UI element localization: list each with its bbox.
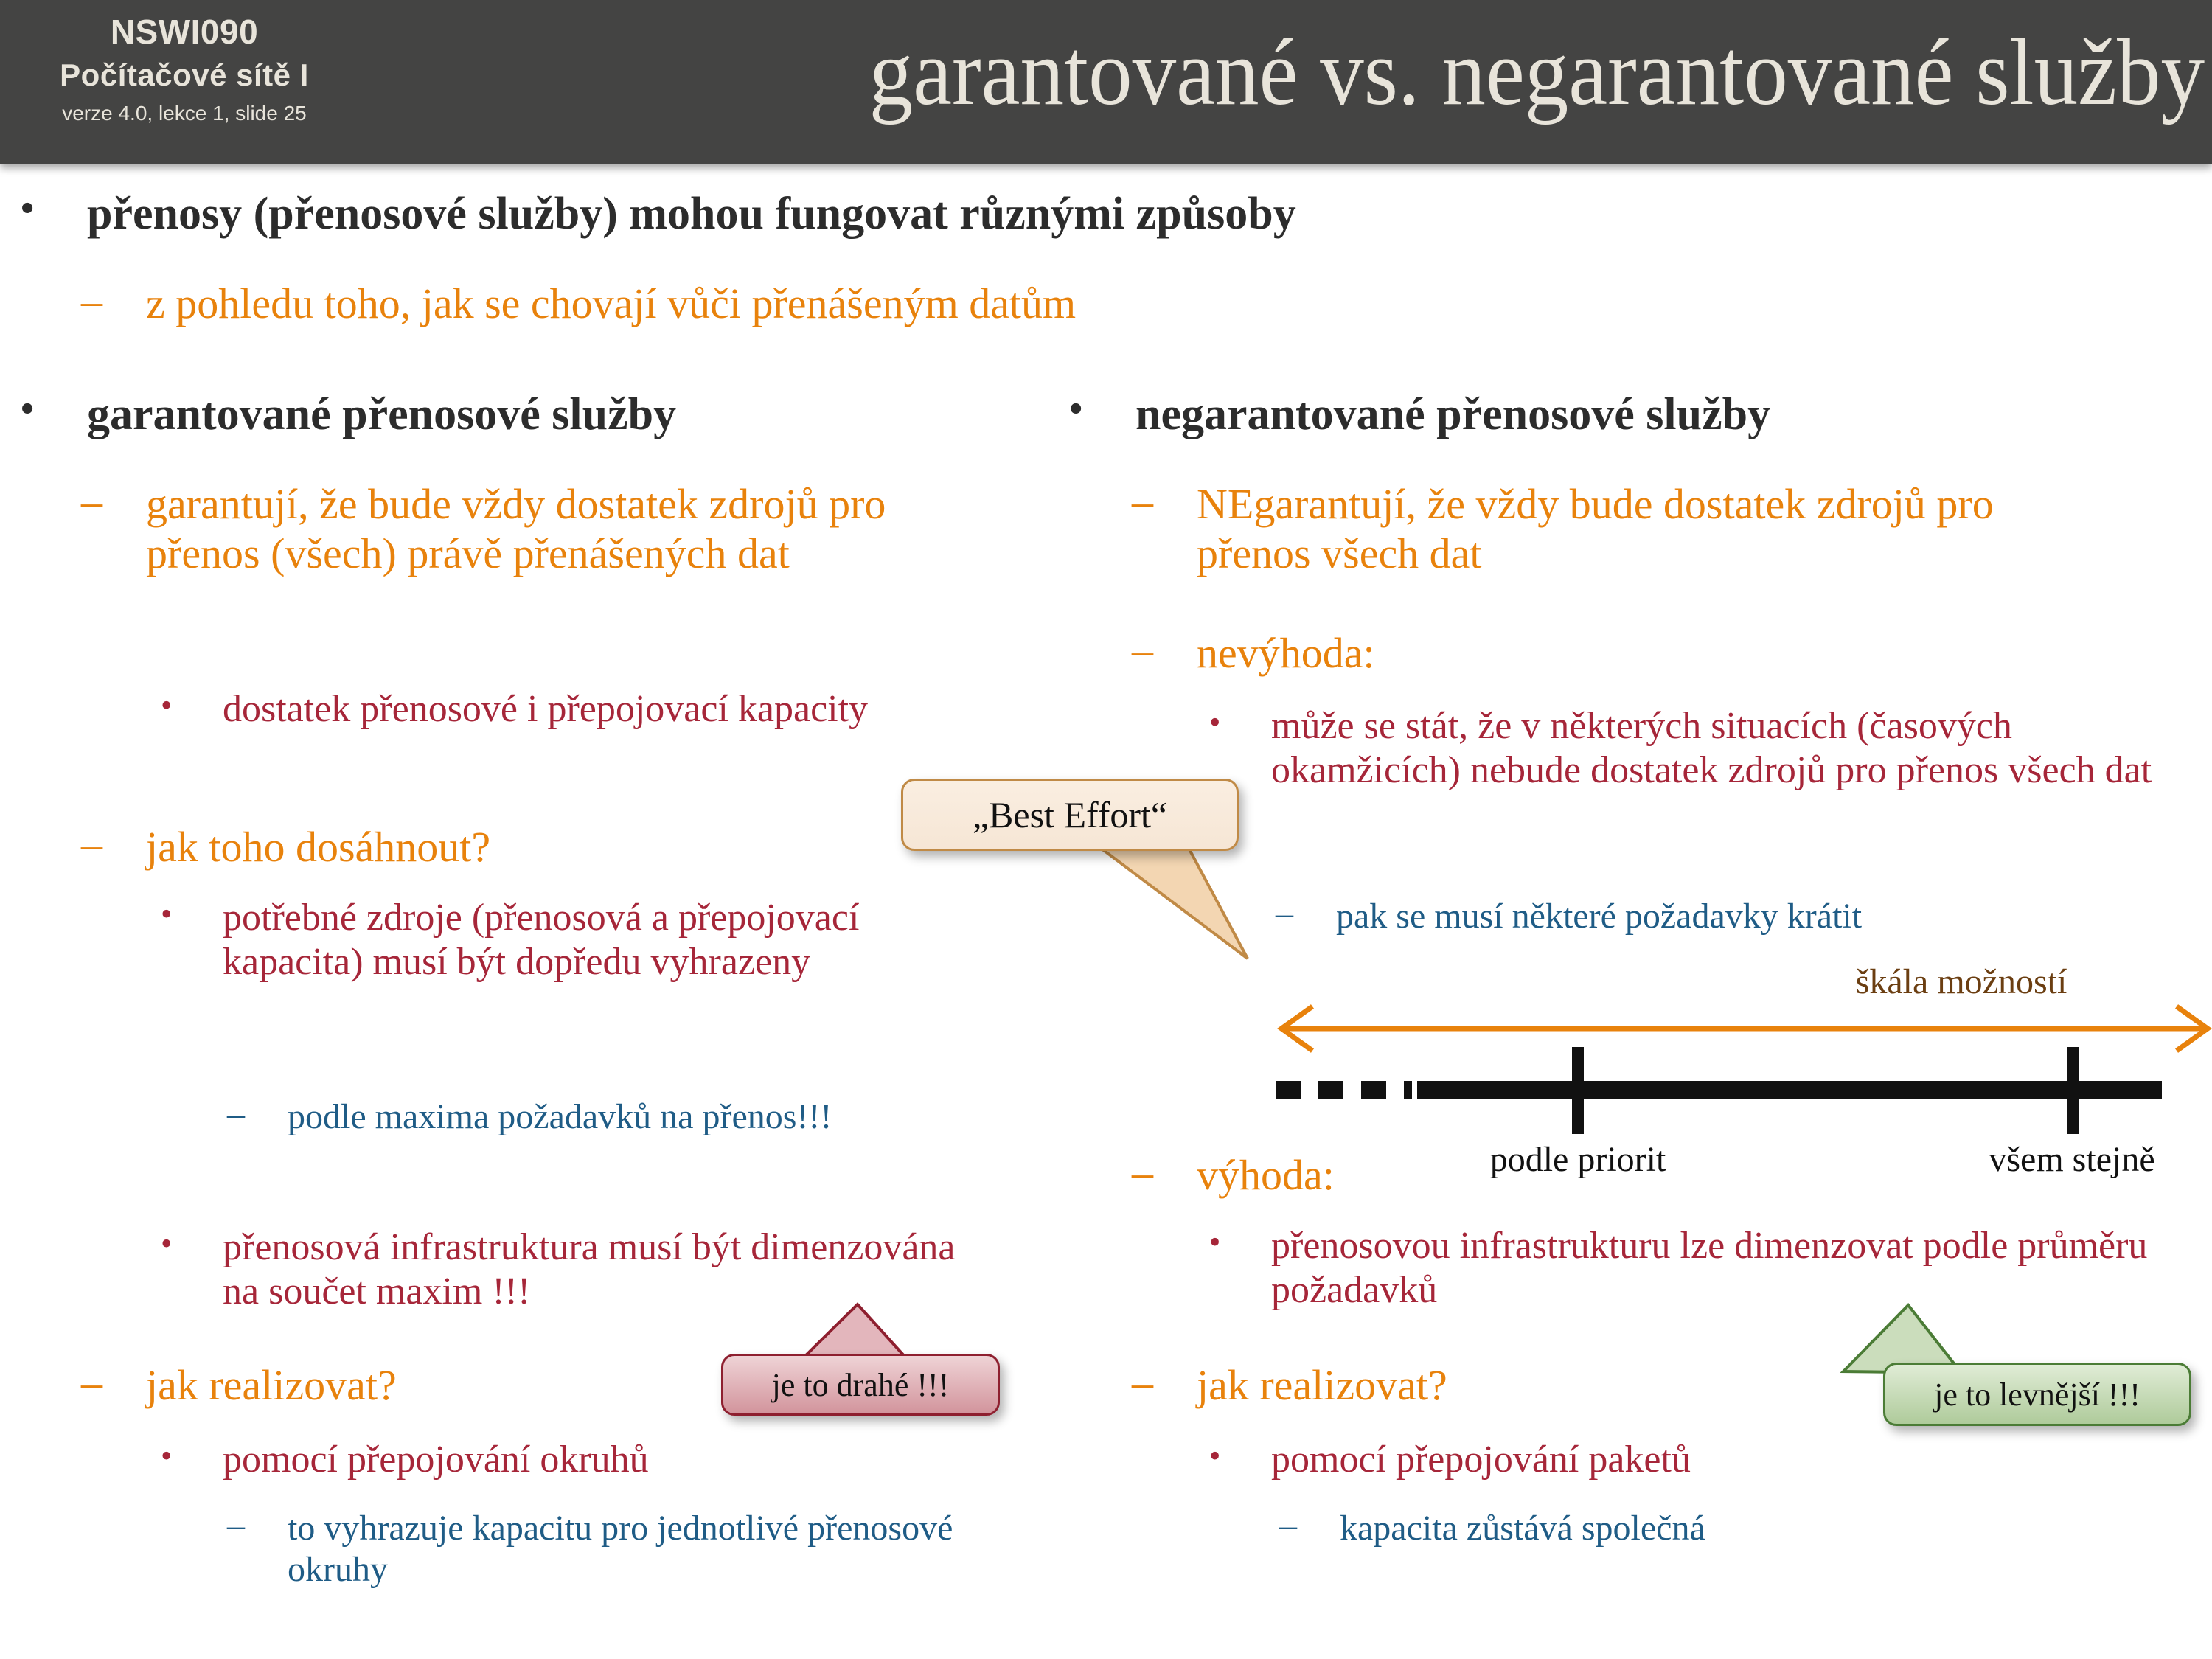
dash-icon: – — [1132, 628, 1197, 673]
left-item2-sub1-label: potřebné zdroje (přenosová a přepojovací… — [223, 896, 987, 985]
left-item3-sub1-label: pomocí přepojování okruhů — [223, 1438, 994, 1482]
dash-icon: – — [1132, 1360, 1197, 1405]
scale-tick-right-label: všem stejně — [1902, 1139, 2212, 1180]
bullet-dot-icon: • — [1069, 391, 1135, 427]
right-item4-label: jak realizovat? — [1197, 1360, 1869, 1410]
left-heading-label: garantované přenosové služby — [87, 391, 1038, 439]
version-line: verze 4.0, lekce 1, slide 25 — [0, 102, 369, 125]
right-item2-label: nevýhoda: — [1197, 628, 2017, 678]
right-item1-label: NEgarantují, že vždy bude dostatek zdroj… — [1197, 479, 2061, 579]
course-badge: NSWI090 Počítačové sítě I verze 4.0, lek… — [0, 0, 369, 147]
left-item3-sub1-sub-label: to vyhrazuje kapacitu pro jednotlivé pře… — [288, 1508, 1060, 1590]
slide-header: NSWI090 Počítačové sítě I verze 4.0, lek… — [0, 0, 2212, 164]
right-item2-sub1-label: může se stát, že v některých situacích (… — [1271, 704, 2190, 793]
scale-diagram: škála možností podle priorit všem stejně — [1253, 966, 2212, 1187]
left-item2-sub1-sub-label: podle maxima požadavků na přenos!!! — [288, 1096, 994, 1138]
course-name: Počítačové sítě I — [0, 58, 369, 93]
bullet-dot-icon: • — [161, 687, 223, 725]
cheaper-callout: je to levnější !!! — [1883, 1363, 2191, 1426]
left-item2: – jak toho dosáhnout? — [81, 822, 966, 872]
dash-icon: – — [227, 1096, 288, 1132]
right-item4-sub1-sub-label: kapacita zůstává společná — [1340, 1508, 2164, 1549]
dash-icon: – — [81, 479, 146, 524]
best-effort-callout-label: „Best Effort“ — [973, 793, 1167, 836]
left-item1-sub-label: dostatek přenosové i přepojovací kapacit… — [223, 687, 987, 731]
left-item3-sub1-sub: – to vyhrazuje kapacitu pro jednotlivé p… — [227, 1508, 1060, 1590]
dash-icon: – — [227, 1508, 288, 1543]
dash-icon: – — [81, 822, 146, 867]
right-heading-label: negarantované přenosové služby — [1135, 391, 2190, 439]
left-item3-label: jak realizovat? — [146, 1360, 745, 1410]
right-item4-sub1-sub: – kapacita zůstává společná — [1279, 1508, 2164, 1549]
left-item2-sub1-sub: – podle maxima požadavků na přenos!!! — [227, 1096, 994, 1138]
right-item4-sub1-label: pomocí přepojování paketů — [1271, 1438, 2094, 1482]
left-item2-sub1: • potřebné zdroje (přenosová a přepojova… — [161, 896, 987, 985]
dash-icon: – — [1132, 1150, 1197, 1195]
dash-icon: – — [81, 1360, 146, 1405]
right-item2-sub1-sub: – pak se musí některé požadavky krátit — [1276, 896, 2205, 937]
right-item2-sub1: • může se stát, že v některých situacích… — [1209, 704, 2190, 793]
intro-sub: – z pohledu toho, jak se chovají vůči př… — [81, 279, 1924, 328]
left-item1: – garantují, že bude vždy dostatek zdroj… — [81, 479, 966, 579]
bullet-dot-icon: • — [1209, 704, 1271, 742]
dash-icon: – — [81, 279, 146, 324]
right-item2: – nevýhoda: — [1132, 628, 2017, 678]
dash-icon: – — [1279, 1508, 1340, 1543]
right-item2-sub1-sub-label: pak se musí některé požadavky krátit — [1336, 896, 2205, 937]
left-item2-label: jak toho dosáhnout? — [146, 822, 966, 872]
expensive-callout: je to drahé !!! — [721, 1354, 1000, 1416]
page-title: garantované vs. negarantované služby — [511, 0, 2205, 146]
left-item3-sub1: • pomocí přepojování okruhů — [161, 1438, 994, 1482]
intro-bullet: • přenosy (přenosové služby) mohou fungo… — [21, 190, 2011, 239]
right-item1: – NEgarantují, že vždy bude dostatek zdr… — [1132, 479, 2061, 579]
right-item4: – jak realizovat? — [1132, 1360, 1869, 1410]
bullet-dot-icon: • — [1209, 1224, 1271, 1262]
scale-arrow-icon — [1281, 1006, 2208, 1051]
right-heading: • negarantované přenosové služby — [1069, 391, 2190, 439]
bullet-dot-icon: • — [161, 1438, 223, 1475]
bullet-dot-icon: • — [1209, 1438, 1271, 1475]
bullet-dot-icon: • — [161, 896, 223, 933]
right-item4-sub1: • pomocí přepojování paketů — [1209, 1438, 2094, 1482]
course-code: NSWI090 — [0, 12, 369, 52]
scale-tick-left-label: podle priorit — [1408, 1139, 1747, 1180]
left-item1-label: garantují, že bude vždy dostatek zdrojů … — [146, 479, 966, 579]
intro-sub-label: z pohledu toho, jak se chovají vůči přen… — [146, 279, 1924, 328]
bullet-dot-icon: • — [161, 1225, 223, 1263]
left-item3: – jak realizovat? — [81, 1360, 745, 1410]
left-heading: • garantované přenosové služby — [21, 391, 1038, 439]
cheaper-callout-label: je to levnější !!! — [1934, 1376, 2140, 1413]
bullet-dot-icon: • — [21, 391, 87, 427]
dash-icon: – — [1132, 479, 1197, 524]
intro-bullet-label: přenosy (přenosové služby) mohou fungova… — [87, 190, 2011, 239]
best-effort-callout: „Best Effort“ — [901, 779, 1239, 851]
expensive-callout-label: je to drahé !!! — [772, 1366, 950, 1404]
bullet-dot-icon: • — [21, 190, 87, 226]
left-item1-sub: • dostatek přenosové i přepojovací kapac… — [161, 687, 987, 731]
